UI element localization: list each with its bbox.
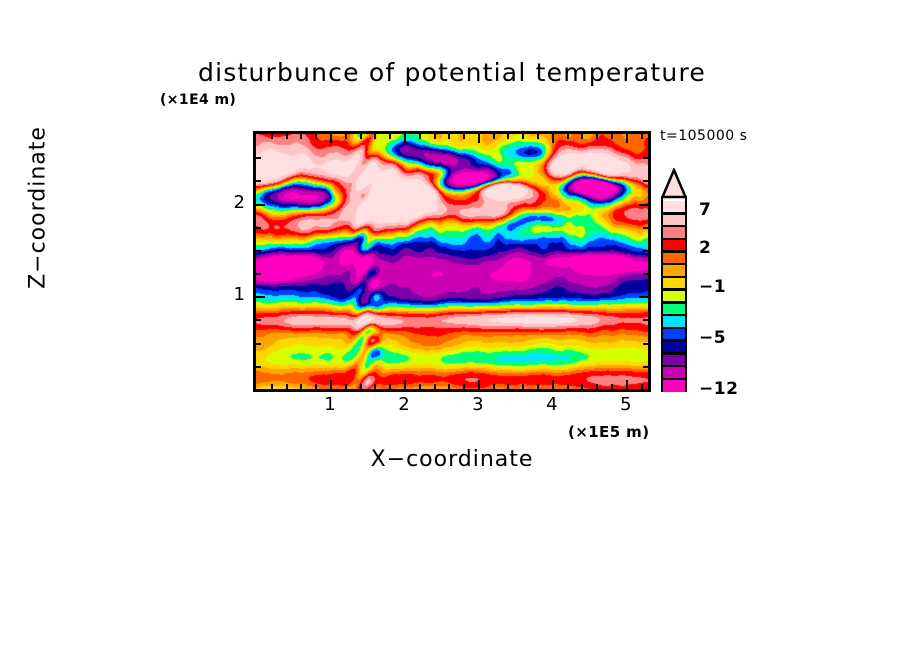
axis-tick bbox=[463, 384, 465, 389]
axis-tick bbox=[256, 250, 261, 252]
axis-tick bbox=[330, 134, 332, 143]
axis-tick bbox=[493, 384, 495, 389]
axis-tick bbox=[256, 319, 261, 321]
colorbar-divider bbox=[663, 352, 685, 355]
y-axis-unit-label: (×1E4 m) bbox=[160, 92, 236, 108]
x-tick-label: 5 bbox=[611, 394, 641, 415]
colorbar-divider bbox=[663, 288, 685, 291]
axis-tick bbox=[507, 134, 509, 139]
axis-tick bbox=[522, 134, 524, 139]
colorbar-tick-label: 2 bbox=[699, 238, 711, 258]
axis-tick bbox=[345, 134, 347, 139]
axis-tick bbox=[434, 384, 436, 389]
axis-tick bbox=[389, 134, 391, 139]
axis-tick bbox=[643, 343, 648, 345]
axis-tick bbox=[567, 134, 569, 139]
x-tick-label: 4 bbox=[537, 394, 567, 415]
colorbar-divider bbox=[663, 263, 685, 266]
colorbar-divider bbox=[663, 339, 685, 342]
axis-tick bbox=[286, 134, 288, 139]
axis-tick bbox=[507, 384, 509, 389]
axis-tick bbox=[611, 134, 613, 139]
colorbar-divider bbox=[663, 314, 685, 317]
colorbar-tick-label: −12 bbox=[699, 379, 738, 399]
y-tick-label: 1 bbox=[215, 284, 245, 305]
axis-tick bbox=[643, 157, 648, 159]
x-axis-unit-label: (×1E5 m) bbox=[568, 423, 649, 441]
axis-tick bbox=[643, 366, 648, 368]
axis-tick bbox=[330, 380, 332, 389]
colorbar-tick-label: −5 bbox=[699, 328, 726, 348]
colorbar-divider bbox=[663, 301, 685, 304]
colorbar-divider bbox=[663, 212, 685, 215]
axis-tick bbox=[256, 296, 265, 298]
contour-field-canvas bbox=[256, 134, 648, 389]
colorbar-divider bbox=[663, 365, 685, 368]
axis-tick bbox=[537, 134, 539, 139]
axis-tick bbox=[581, 134, 583, 139]
axis-tick bbox=[611, 384, 613, 389]
colorbar-divider bbox=[663, 250, 685, 253]
axis-tick bbox=[404, 380, 406, 389]
colorbar-divider bbox=[663, 225, 685, 228]
axis-tick bbox=[643, 180, 648, 182]
axis-tick bbox=[256, 366, 261, 368]
colorbar-segment bbox=[663, 379, 685, 392]
axis-tick bbox=[552, 380, 554, 389]
axis-tick bbox=[300, 134, 302, 139]
x-tick-label: 1 bbox=[315, 394, 345, 415]
axis-tick bbox=[271, 134, 273, 139]
y-axis-title: Z−coordinate bbox=[26, 108, 51, 308]
axis-tick bbox=[643, 273, 648, 275]
axis-tick bbox=[419, 134, 421, 139]
axis-tick bbox=[434, 134, 436, 139]
axis-tick bbox=[389, 384, 391, 389]
colorbar-tick-label: −1 bbox=[699, 277, 726, 297]
colorbar-tick-label: 7 bbox=[699, 200, 711, 220]
axis-tick bbox=[522, 384, 524, 389]
axis-tick bbox=[639, 204, 648, 206]
axis-tick bbox=[581, 384, 583, 389]
colorbar-divider bbox=[663, 238, 685, 241]
colorbar-divider bbox=[663, 327, 685, 330]
axis-tick bbox=[641, 384, 643, 389]
axis-tick bbox=[256, 273, 261, 275]
axis-tick bbox=[256, 227, 261, 229]
x-axis-title: X−coordinate bbox=[253, 447, 651, 472]
axis-tick bbox=[345, 384, 347, 389]
colorbar[interactable]: 72−1−5−12 bbox=[655, 168, 755, 400]
axis-tick bbox=[643, 227, 648, 229]
axis-tick bbox=[639, 296, 648, 298]
axis-tick bbox=[256, 204, 265, 206]
axis-tick bbox=[360, 384, 362, 389]
axis-tick bbox=[478, 380, 480, 389]
y-tick-label: 2 bbox=[215, 192, 245, 213]
timestamp-label: t=105000 s bbox=[660, 128, 747, 144]
axis-tick bbox=[626, 134, 628, 143]
axis-tick bbox=[419, 384, 421, 389]
page-title: disturbunce of potential temperature bbox=[0, 58, 904, 87]
axis-tick bbox=[256, 157, 261, 159]
contour-plot-area[interactable] bbox=[253, 131, 651, 392]
axis-tick bbox=[493, 134, 495, 139]
axis-tick bbox=[626, 380, 628, 389]
axis-tick bbox=[552, 134, 554, 143]
axis-tick bbox=[404, 134, 406, 143]
axis-tick bbox=[315, 384, 317, 389]
x-tick-label: 3 bbox=[463, 394, 493, 415]
x-tick-label: 2 bbox=[389, 394, 419, 415]
axis-tick bbox=[478, 134, 480, 143]
axis-tick bbox=[315, 134, 317, 139]
axis-tick bbox=[448, 134, 450, 139]
axis-tick bbox=[374, 134, 376, 139]
axis-tick bbox=[271, 384, 273, 389]
axis-tick bbox=[300, 384, 302, 389]
axis-tick bbox=[643, 250, 648, 252]
axis-tick bbox=[374, 384, 376, 389]
colorbar-divider bbox=[663, 276, 685, 279]
axis-tick bbox=[463, 134, 465, 139]
axis-tick bbox=[360, 134, 362, 139]
axis-tick bbox=[286, 384, 288, 389]
axis-tick bbox=[643, 319, 648, 321]
axis-tick bbox=[596, 134, 598, 139]
axis-tick bbox=[641, 134, 643, 139]
axis-tick bbox=[256, 343, 261, 345]
axis-tick bbox=[567, 384, 569, 389]
axis-tick bbox=[256, 180, 261, 182]
axis-tick bbox=[448, 384, 450, 389]
colorbar-divider bbox=[663, 378, 685, 381]
colorbar-gradient bbox=[661, 196, 687, 392]
axis-tick bbox=[596, 384, 598, 389]
axis-tick bbox=[537, 384, 539, 389]
